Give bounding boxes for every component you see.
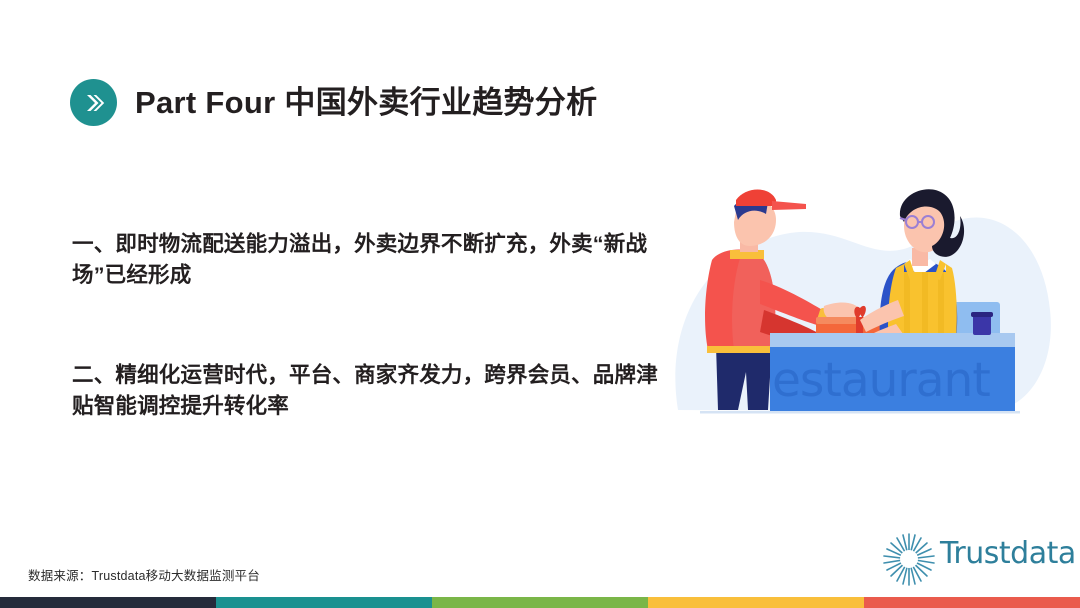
cap-brim	[772, 201, 806, 210]
jacket-hem	[707, 346, 773, 353]
counter-top	[770, 333, 1015, 347]
bullet-item-1: 一、即时物流配送能力溢出，外卖边界不断扩充，外卖“新战场”已经形成	[72, 229, 672, 290]
bar-segment-red	[864, 597, 1080, 608]
double-chevron-right-icon	[70, 79, 117, 126]
bullet-item-2: 二、精细化运营时代，平台、商家齐发力，跨界会员、品牌津贴智能调控提升转化率	[72, 360, 672, 421]
page-title: Part Four 中国外卖行业趋势分析	[135, 87, 597, 118]
bottom-color-bar	[0, 597, 1080, 608]
coffee-cup	[971, 312, 993, 335]
trustdata-logo: Trustdata	[878, 528, 1068, 590]
courier-cap	[736, 190, 776, 207]
food-delivery-handoff-illustration: estaurant	[660, 160, 1060, 430]
floor-line	[700, 411, 1020, 414]
bar-segment-green	[432, 597, 648, 608]
counter-label: estaurant	[772, 353, 990, 408]
sunburst-center	[900, 550, 918, 568]
svg-text:estaurant: estaurant	[772, 353, 990, 408]
bar-segment-teal	[216, 597, 432, 608]
bar-segment-yellow	[648, 597, 864, 608]
slide-header: Part Four 中国外卖行业趋势分析	[70, 79, 597, 126]
bar-segment-navy	[0, 597, 216, 608]
slide-canvas: Part Four 中国外卖行业趋势分析 一、即时物流配送能力溢出，外卖边界不断…	[0, 0, 1080, 608]
brand-name: Trustdata	[940, 536, 1076, 571]
data-source-note: 数据来源：Trustdata移动大数据监测平台	[28, 565, 260, 584]
